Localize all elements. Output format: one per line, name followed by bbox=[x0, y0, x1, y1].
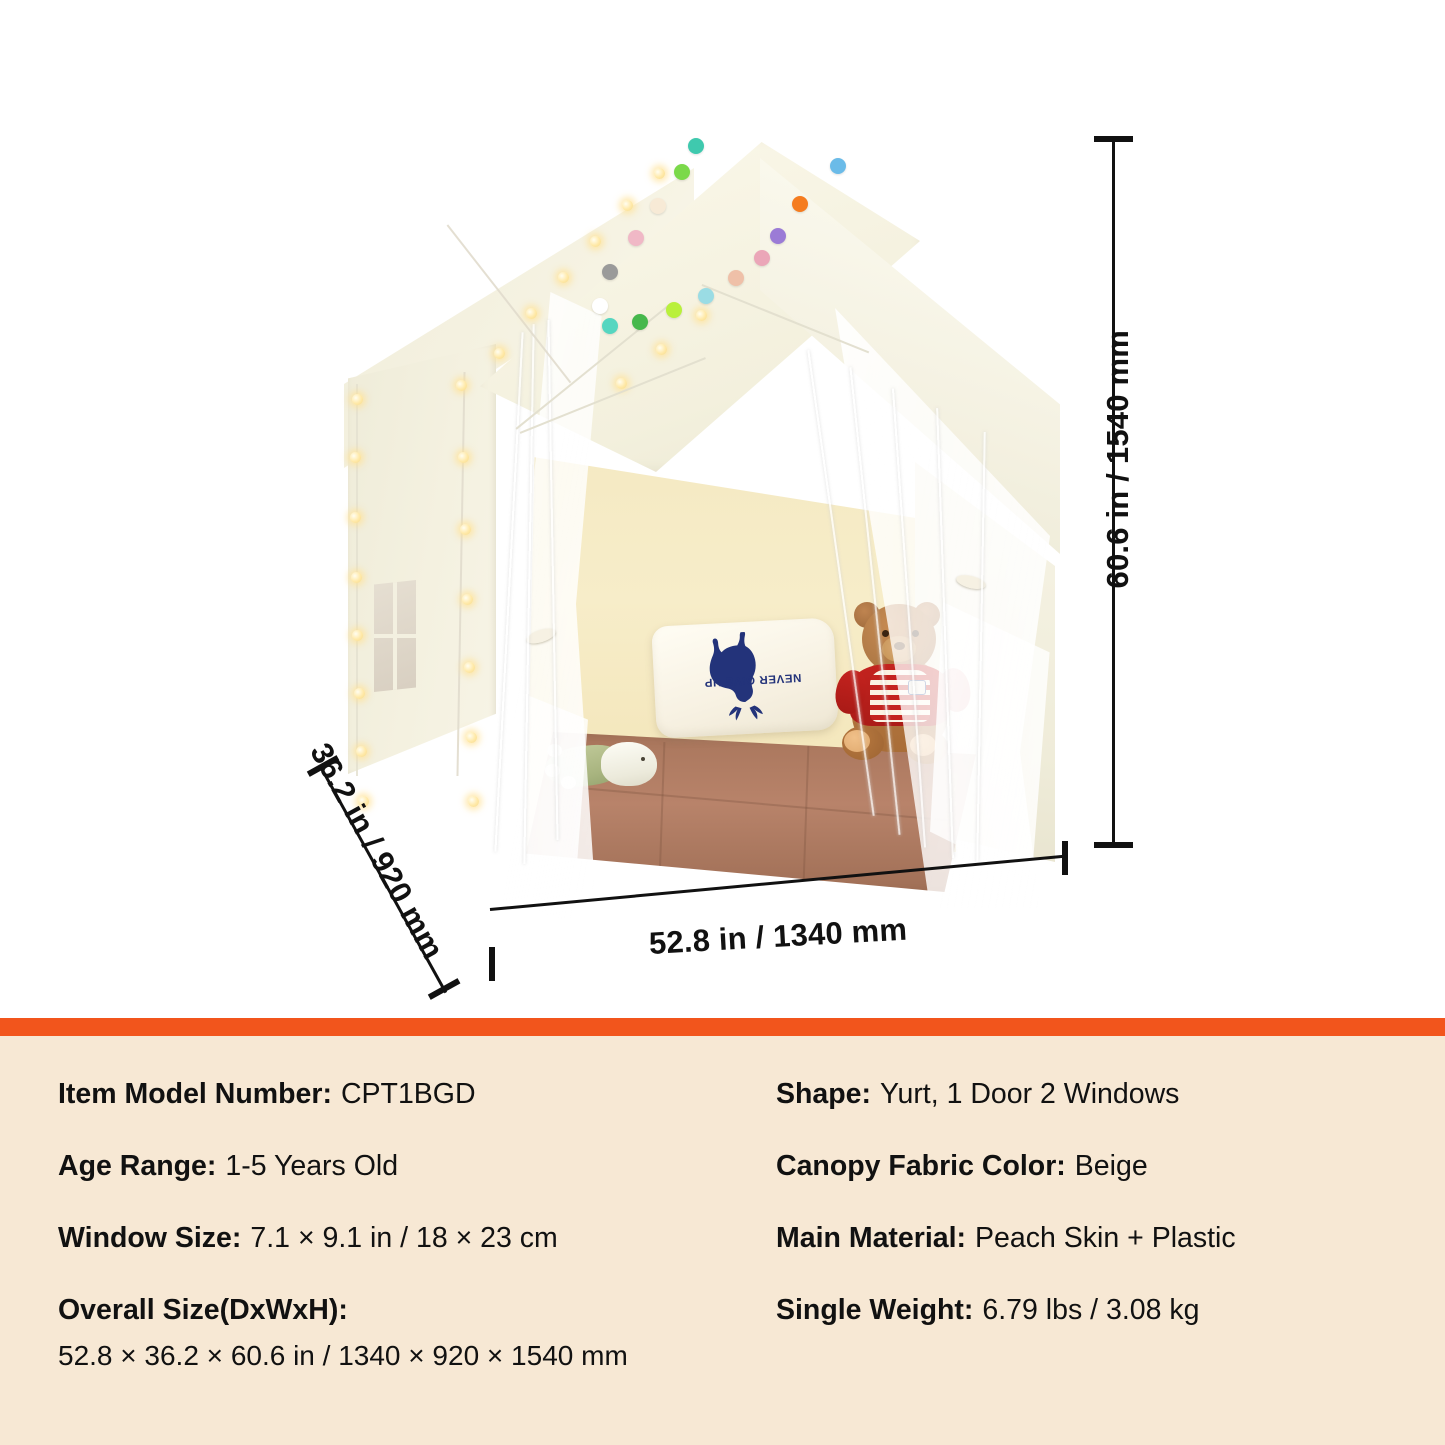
spec-row-overall-size: Overall Size(DxWxH): 52.8 × 36.2 × 60.6 … bbox=[58, 1294, 776, 1372]
led-bulb bbox=[356, 746, 367, 757]
led-bulb bbox=[656, 344, 667, 355]
spec-row-shape: Shape: Yurt, 1 Door 2 Windows bbox=[776, 1078, 1398, 1150]
led-bulb bbox=[616, 378, 627, 389]
led-bulb bbox=[558, 272, 569, 283]
spec-row-age-range: Age Range: 1-5 Years Old bbox=[58, 1150, 776, 1222]
width-dimension-cap-left bbox=[489, 947, 495, 981]
spec-value: Peach Skin + Plastic bbox=[975, 1222, 1236, 1256]
spec-row-main-material: Main Material: Peach Skin + Plastic bbox=[776, 1222, 1398, 1294]
pom-pom bbox=[792, 196, 808, 212]
spec-key: Main Material: bbox=[776, 1222, 966, 1256]
height-dimension-cap-bottom bbox=[1094, 842, 1133, 848]
spec-row-canopy-fabric-color: Canopy Fabric Color: Beige bbox=[776, 1150, 1398, 1222]
led-bulb bbox=[350, 452, 361, 463]
pom-pom bbox=[602, 264, 618, 280]
led-bulb bbox=[696, 310, 707, 321]
height-dimension-cap-top bbox=[1094, 136, 1133, 142]
spec-value: Beige bbox=[1075, 1150, 1148, 1184]
led-bulb bbox=[464, 662, 475, 673]
product-photo: NEVER GIVE UP bbox=[0, 0, 1445, 1018]
pom-pom bbox=[688, 138, 704, 154]
pom-pom bbox=[698, 288, 714, 304]
window-mullion-horizontal bbox=[374, 634, 416, 638]
led-bulb bbox=[466, 732, 477, 743]
led-bulb bbox=[350, 512, 361, 523]
pom-pom bbox=[830, 158, 846, 174]
pom-pom bbox=[674, 164, 690, 180]
spec-key: Item Model Number: bbox=[58, 1078, 332, 1112]
pom-pom bbox=[602, 318, 618, 334]
spec-key: Single Weight: bbox=[776, 1294, 973, 1328]
led-bulb bbox=[458, 452, 469, 463]
pom-pom bbox=[628, 230, 644, 246]
pom-pom bbox=[754, 250, 770, 266]
spec-value: 7.1 × 9.1 in / 18 × 23 cm bbox=[250, 1222, 557, 1256]
height-dimension-label: 60.6 in / 1540 mm bbox=[1100, 330, 1136, 588]
spec-value: 1-5 Years Old bbox=[225, 1150, 398, 1184]
spec-value: 6.79 lbs / 3.08 kg bbox=[982, 1294, 1199, 1328]
spec-key: Age Range: bbox=[58, 1150, 216, 1184]
pom-pom bbox=[666, 302, 682, 318]
width-dimension-label: 52.8 in / 1340 mm bbox=[648, 912, 908, 962]
led-bulb bbox=[654, 168, 665, 179]
pom-pom bbox=[632, 314, 648, 330]
led-bulb bbox=[351, 572, 362, 583]
spec-key: Shape: bbox=[776, 1078, 871, 1112]
spec-value: 52.8 × 36.2 × 60.6 in / 1340 × 920 × 154… bbox=[58, 1339, 628, 1372]
specification-grid: Item Model Number: CPT1BGD Shape: Yurt, … bbox=[58, 1078, 1398, 1372]
tent-window bbox=[374, 580, 416, 692]
spec-key: Window Size: bbox=[58, 1222, 241, 1256]
spec-key: Overall Size(DxWxH): bbox=[58, 1294, 348, 1328]
led-bulb bbox=[352, 394, 363, 405]
led-bulb bbox=[460, 524, 471, 535]
tent-left-side-wall bbox=[348, 344, 496, 774]
width-dimension-cap-right bbox=[1062, 841, 1068, 875]
spec-row-single-weight: Single Weight: 6.79 lbs / 3.08 kg bbox=[776, 1294, 1398, 1372]
spec-row-item-model-number: Item Model Number: CPT1BGD bbox=[58, 1078, 776, 1150]
pom-pom bbox=[592, 298, 608, 314]
depth-dimension-cap-bottom bbox=[428, 978, 460, 999]
led-bulb bbox=[354, 688, 365, 699]
pom-pom bbox=[770, 228, 786, 244]
led-bulb bbox=[456, 380, 467, 391]
led-bulb bbox=[468, 796, 479, 807]
led-bulb bbox=[462, 594, 473, 605]
play-tent-illustration: NEVER GIVE UP bbox=[330, 132, 1070, 872]
spec-key: Canopy Fabric Color: bbox=[776, 1150, 1066, 1184]
sheer-curtain-left-tail bbox=[478, 692, 588, 922]
spec-value: CPT1BGD bbox=[341, 1078, 476, 1112]
led-bulb bbox=[622, 200, 633, 211]
led-bulb bbox=[352, 630, 363, 641]
decor-pillow: NEVER GIVE UP bbox=[651, 617, 839, 738]
pom-pom bbox=[728, 270, 744, 286]
led-bulb bbox=[494, 348, 505, 359]
led-bulb bbox=[590, 236, 601, 247]
spec-value: Yurt, 1 Door 2 Windows bbox=[880, 1078, 1179, 1112]
spec-row-window-size: Window Size: 7.1 × 9.1 in / 18 × 23 cm bbox=[58, 1222, 776, 1294]
led-bulb bbox=[526, 308, 537, 319]
pom-pom bbox=[650, 198, 666, 214]
orange-divider bbox=[0, 1018, 1445, 1036]
